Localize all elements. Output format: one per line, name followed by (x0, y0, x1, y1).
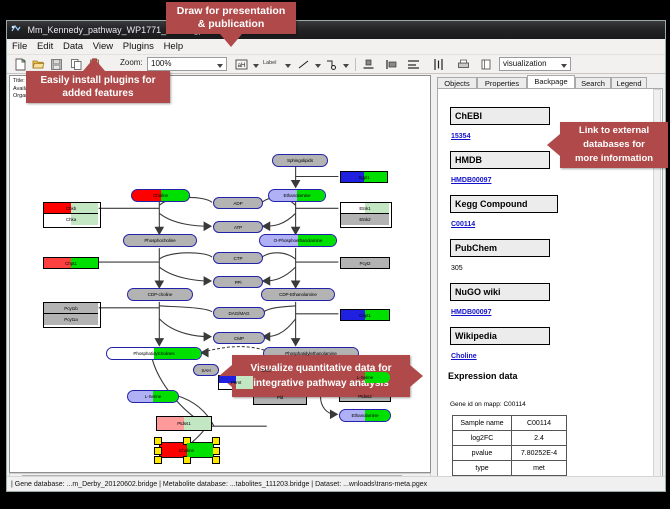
node-etnk1[interactable]: Etnk1 (341, 203, 389, 214)
node-o-phosphoethanolamine[interactable]: O-Phosphoethanolamine (259, 234, 337, 247)
section-header-pubchem: PubChem (450, 239, 550, 257)
chevron-down-icon (217, 64, 223, 68)
tab-label: Legend (616, 79, 641, 88)
print-icon[interactable] (457, 58, 470, 71)
connector-chevron-icon[interactable] (343, 64, 349, 68)
section-header-hmdb: HMDB (450, 151, 550, 169)
zoom-combobox[interactable]: 100% (147, 57, 227, 71)
link-text: 15354 (451, 133, 470, 140)
node-choline-top[interactable]: Choline (131, 189, 190, 202)
node-label: O-Phosphoethanolamine (274, 238, 323, 243)
node-ethanolamine[interactable]: Ethanolamine (268, 189, 326, 202)
node-l-serine-left[interactable]: L-Serine (127, 390, 179, 403)
screenshot-root: Mm_Kennedy_pathway_WP1771_45176.gpml Fil… (0, 0, 670, 509)
node-sgpl1[interactable]: Sgpl1 (340, 171, 388, 183)
node-ctp[interactable]: CTP (213, 252, 263, 264)
link-chebi[interactable]: 15354 (451, 133, 470, 140)
svg-text:aH: aH (238, 63, 246, 69)
copy-icon[interactable] (70, 58, 83, 71)
selected-node-group[interactable]: Choline (153, 437, 220, 463)
section-header-kegg: Kegg Compound (450, 195, 558, 213)
node-label: Ethanolamine (284, 193, 311, 198)
panel-tabstrip: Objects Properties Backpage Search Legen… (437, 75, 663, 88)
node-label: Sphingolipids (287, 158, 313, 163)
node-cmp[interactable]: CMP (213, 332, 265, 344)
distribute-vertical-icon[interactable] (432, 58, 445, 71)
save-icon[interactable] (50, 58, 63, 71)
node-cept1[interactable]: Cept1 (340, 309, 390, 321)
node-ptdss1[interactable]: Ptdss1 (156, 416, 212, 431)
selection-handle[interactable] (154, 456, 162, 464)
cell-value: 7.80252E-4 (512, 446, 567, 461)
node-pcyt1b[interactable]: Pcyt1b (44, 303, 98, 314)
node-label: Pcyt1a (64, 317, 77, 322)
link-text: C00114 (451, 221, 475, 228)
line-chevron-icon[interactable] (315, 64, 321, 68)
node-label: Choline (153, 193, 168, 198)
selection-handle[interactable] (212, 456, 220, 464)
node-phosphocholine[interactable]: Phosphocholine (123, 234, 197, 247)
page-icon[interactable] (480, 58, 493, 71)
visualization-chevron-icon (561, 64, 567, 68)
callout-plugins: Easily install plugins for added feature… (26, 71, 170, 103)
zoom-label: Zoom: (120, 58, 143, 67)
value-pubchem: 305 (451, 265, 463, 272)
tab-label: Backpage (534, 77, 567, 86)
tab-label: Properties (485, 79, 519, 88)
window-titlebar: Mm_Kennedy_pathway_WP1771_45176.gpml (7, 21, 665, 39)
table-row: type met (453, 461, 567, 476)
node-sah[interactable]: SAH (193, 364, 219, 376)
link-text: HMDB00097 (451, 177, 491, 184)
text-format-icon[interactable]: aH (235, 58, 248, 71)
node-label: Pemt (231, 380, 241, 385)
menu-plugins[interactable]: Plugins (123, 39, 154, 55)
node-label: Etnk1 (359, 206, 370, 211)
callout-draw-arrow-icon (220, 34, 242, 47)
node-label: Chpt1 (65, 261, 77, 266)
callout-links-line1: Link to external (579, 124, 649, 138)
menu-file[interactable]: File (12, 39, 27, 55)
text-format-chevron-icon[interactable] (253, 64, 259, 68)
node-adp[interactable]: ADP (213, 197, 263, 209)
distribute-horizontal-icon[interactable] (407, 58, 420, 71)
cell-value: 2.4 (512, 431, 567, 446)
link-text: HMDB00097 (451, 309, 491, 316)
node-label: Phosphatidylcholines (133, 351, 174, 356)
selection-handle[interactable] (212, 437, 220, 445)
section-title: ChEBI (455, 111, 482, 121)
section-title: Wikipedia (455, 331, 497, 341)
node-pcyt1a[interactable]: Pcyt1a (44, 314, 98, 325)
expression-table: Sample name C00114 log2FC 2.4 pvalue 7.8… (452, 415, 567, 476)
node-chpt1[interactable]: Chpt1 (43, 257, 99, 269)
section-title: HMDB (455, 155, 482, 165)
section-header-wikipedia: Wikipedia (450, 327, 550, 345)
node-label: L-Serine (357, 375, 374, 380)
zoom-value: 100% (151, 59, 171, 68)
table-row: Sample name C00114 (453, 416, 567, 431)
link-wikipedia[interactable]: Choline (451, 353, 477, 360)
tab-search[interactable]: Search (575, 77, 611, 88)
node-label: Choline (179, 448, 194, 453)
new-file-icon[interactable] (14, 58, 27, 71)
node-phosphatidylcholines[interactable]: Phosphatidylcholines (106, 347, 202, 360)
node-label: CTP (234, 256, 243, 261)
node-label: ADP (233, 201, 242, 206)
node-pcyt2[interactable]: Pcyt2 (340, 257, 390, 269)
node-label: SAH (201, 368, 210, 373)
menu-help[interactable]: Help (164, 39, 184, 55)
node-label: CDP-Ethanolamine (279, 292, 317, 297)
node-sphingolipids[interactable]: Sphingolipids (272, 154, 328, 167)
gene-group-chk[interactable]: Chkb Chka (43, 202, 101, 228)
cell-key: type (453, 461, 512, 476)
gene-group-etnk[interactable]: Etnk1 Etnk2 (340, 202, 392, 228)
selection-handle[interactable] (183, 456, 191, 464)
gene-group-pcyt1[interactable]: Pcyt1b Pcyt1a (43, 302, 101, 328)
callout-links-line3: more information (575, 152, 653, 166)
node-label: CMP (234, 336, 244, 341)
link-hmdb[interactable]: HMDB00097 (451, 177, 491, 184)
node-label: Pcyt2 (360, 261, 371, 266)
cell-key: log2FC (453, 431, 512, 446)
menu-data[interactable]: Data (63, 39, 83, 55)
node-choline-selected[interactable]: Choline (159, 442, 214, 458)
tab-label: Search (581, 79, 605, 88)
node-chkb[interactable]: Chkb (44, 203, 98, 214)
tab-backpage[interactable]: Backpage (527, 75, 575, 88)
open-folder-icon[interactable] (32, 58, 45, 71)
tab-label: Objects (444, 79, 469, 88)
expression-data-title: Expression data (448, 371, 518, 381)
menu-view[interactable]: View (93, 39, 113, 55)
selection-handle[interactable] (154, 447, 162, 455)
node-label: SAM (261, 368, 271, 373)
label-dropdown-text[interactable]: Label (263, 60, 276, 66)
section-header-chebi: ChEBI (450, 107, 550, 125)
node-label: Chkb (66, 206, 76, 211)
value-text: 305 (451, 265, 463, 272)
selection-handle[interactable] (154, 437, 162, 445)
node-label: Etnk2 (359, 217, 370, 222)
node-ppi[interactable]: PPi (213, 276, 263, 288)
callout-links-arrow-icon (547, 134, 560, 156)
callout-plugins-arrow-icon (83, 58, 105, 71)
cell-value: C00114 (512, 416, 567, 431)
cell-key: Sample name (453, 416, 512, 431)
node-label: L-Serine (145, 394, 162, 399)
section-header-nugowiki: NuGO wiki (450, 283, 550, 301)
node-label: Cept1 (359, 313, 371, 318)
table-row: pvalue 7.80252E-4 (453, 446, 567, 461)
tab-properties[interactable]: Properties (477, 77, 527, 88)
callout-plugins-line1: Easily install plugins for (40, 74, 155, 87)
menu-edit[interactable]: Edit (37, 39, 53, 55)
menubar: File Edit Data View Plugins Help (7, 39, 665, 55)
align-bottom-icon[interactable] (362, 58, 375, 71)
callout-draw: Draw for presentation & publication (166, 2, 296, 34)
node-label: Phosphocholine (144, 238, 175, 243)
section-title: Kegg Compound (455, 199, 528, 209)
visualization-combobox[interactable]: visualization (499, 57, 571, 71)
visualization-value: visualization (503, 59, 547, 68)
node-label: Ptdss1 (177, 421, 190, 426)
callout-links: Link to external databases for more info… (560, 122, 668, 168)
node-label: Pld (277, 395, 283, 400)
node-label: Chka (66, 217, 76, 222)
link-nugowiki[interactable]: HMDB00097 (451, 309, 491, 316)
node-label: ATP (234, 225, 242, 230)
callout-draw-line1: Draw for presentation (177, 5, 286, 18)
node-cdp-choline[interactable]: CDP-choline (127, 288, 193, 301)
node-label: Phosphatidylethanolamine (285, 351, 337, 356)
cell-value: met (512, 461, 567, 476)
node-ethanolamine-right[interactable]: Ethanolamine (339, 409, 391, 422)
node-dag-mag[interactable]: DAG/MAG (213, 307, 265, 319)
node-label: Sgpl1 (358, 175, 369, 180)
label-chevron-icon[interactable] (285, 64, 291, 68)
app-icon (11, 22, 21, 32)
node-label: Ptdss2 (358, 394, 371, 399)
callout-draw-line2: & publication (198, 18, 265, 31)
link-kegg[interactable]: C00114 (451, 221, 475, 228)
node-chka[interactable]: Chka (44, 214, 98, 225)
section-title: NuGO wiki (455, 287, 501, 297)
arrow-connector-icon[interactable] (325, 58, 338, 71)
node-label: DAG/MAG (229, 311, 250, 316)
align-left-icon[interactable] (385, 58, 398, 71)
tab-legend[interactable]: Legend (611, 77, 647, 88)
callout-links-line2: databases for (583, 138, 645, 152)
section-title: PubChem (455, 243, 497, 253)
statusbar: | Gene database: ...m_Derby_20120602.bri… (7, 476, 665, 491)
node-cdp-ethanolamine[interactable]: CDP-Ethanolamine (261, 288, 335, 301)
node-label: PPi (235, 280, 242, 285)
line-icon[interactable] (297, 58, 310, 71)
node-label: CDP-choline (148, 292, 173, 297)
selection-handle[interactable] (212, 447, 220, 455)
pathway-canvas[interactable]: Title: Availa Organi (9, 75, 431, 473)
node-label: Ethanolamine (352, 413, 379, 418)
node-etnk2[interactable]: Etnk2 (341, 214, 389, 225)
callout-plugins-line2: added features (62, 87, 133, 100)
tab-objects[interactable]: Objects (437, 77, 477, 88)
link-text: Choline (451, 353, 477, 360)
table-row: log2FC 2.4 (453, 431, 567, 446)
node-atp[interactable]: ATP (213, 221, 263, 233)
node-label: Pcyt1b (64, 306, 77, 311)
callout-visualize-arrow-right-icon (410, 365, 423, 387)
cell-key: pvalue (453, 446, 512, 461)
gene-id-line: Gene id on mapp: C00114 (450, 401, 526, 408)
